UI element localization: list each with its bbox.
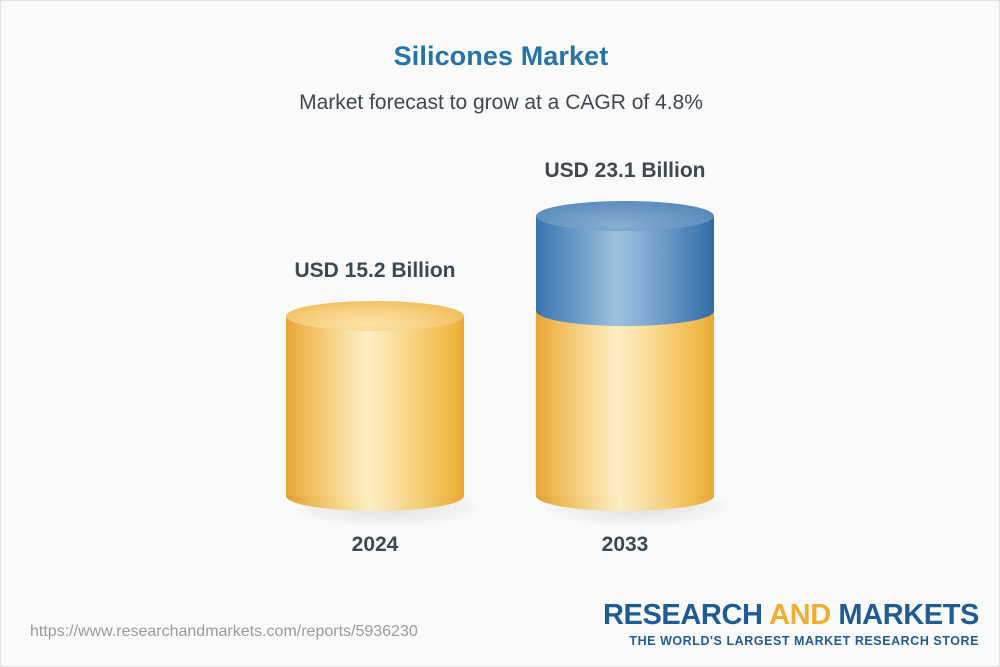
cylinder-growth-2033 (536, 201, 714, 326)
bar-group-2024: USD 15.2 Billion 2024 (286, 181, 464, 561)
logo-word-and: AND (769, 599, 831, 631)
cylinder-base-2033 (536, 311, 714, 511)
cylinder-body-2024 (286, 316, 464, 496)
research-and-markets-logo: RESEARCH AND MARKETS THE WORLD'S LARGEST… (603, 601, 979, 648)
cylinder-body-yellow-2033 (536, 311, 714, 496)
value-label-2024: USD 15.2 Billion (256, 259, 494, 283)
cylinder-2024 (286, 301, 464, 511)
bar-group-2033: USD 23.1 Billion 2033 (536, 81, 714, 561)
bar-chart-plot: USD 15.2 Billion 2024 USD 23.1 Billion (1, 1, 1000, 667)
logo-word-markets: MARKETS (831, 599, 979, 631)
source-url[interactable]: https://www.researchandmarkets.com/repor… (30, 623, 418, 641)
logo-tagline: THE WORLD'S LARGEST MARKET RESEARCH STOR… (603, 635, 979, 648)
logo-wordmark: RESEARCH AND MARKETS (603, 601, 979, 630)
logo-word-research: RESEARCH (603, 599, 769, 631)
cylinder-top-cap-2024 (286, 301, 464, 331)
category-label-2024: 2024 (286, 533, 464, 557)
cylinder-top-cap-2033 (536, 201, 714, 231)
category-label-2033: 2033 (536, 533, 714, 557)
value-label-2033: USD 23.1 Billion (506, 159, 744, 183)
infographic-canvas: Silicones Market Market forecast to grow… (0, 0, 1000, 667)
